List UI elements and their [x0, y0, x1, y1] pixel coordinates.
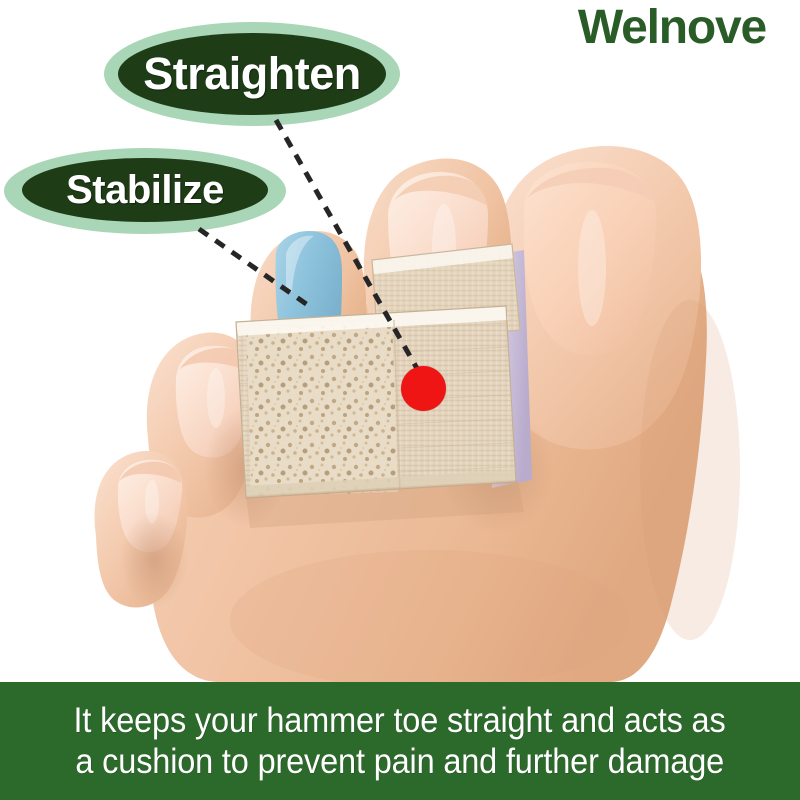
caption-line-2: a cushion to prevent pain and further da…: [76, 741, 725, 782]
product-marketing-image: Straighten Stabilize Welnove It keeps yo…: [0, 0, 800, 800]
callout-straighten[interactable]: Straighten: [104, 22, 400, 126]
callout-stabilize[interactable]: Stabilize: [4, 148, 286, 234]
red-pain-point-marker: [401, 366, 446, 411]
callout-straighten-pill: Straighten: [118, 33, 386, 115]
callout-straighten-label: Straighten: [143, 48, 361, 100]
callout-stabilize-label: Stabilize: [66, 168, 224, 213]
toe-gap-shadow-2: [120, 512, 188, 608]
foot-side-shading: [640, 300, 740, 640]
big-toenail-highlight: [578, 210, 606, 326]
caption-line-1: It keeps your hammer toe straight and ac…: [74, 700, 726, 741]
brand-logo: Welnove: [578, 4, 766, 52]
splint-perforated-cushion-pad: [240, 316, 406, 502]
caption-banner: It keeps your hammer toe straight and ac…: [0, 682, 800, 800]
splint-main-wrap: [230, 300, 530, 510]
callout-stabilize-pill: Stabilize: [22, 158, 268, 222]
